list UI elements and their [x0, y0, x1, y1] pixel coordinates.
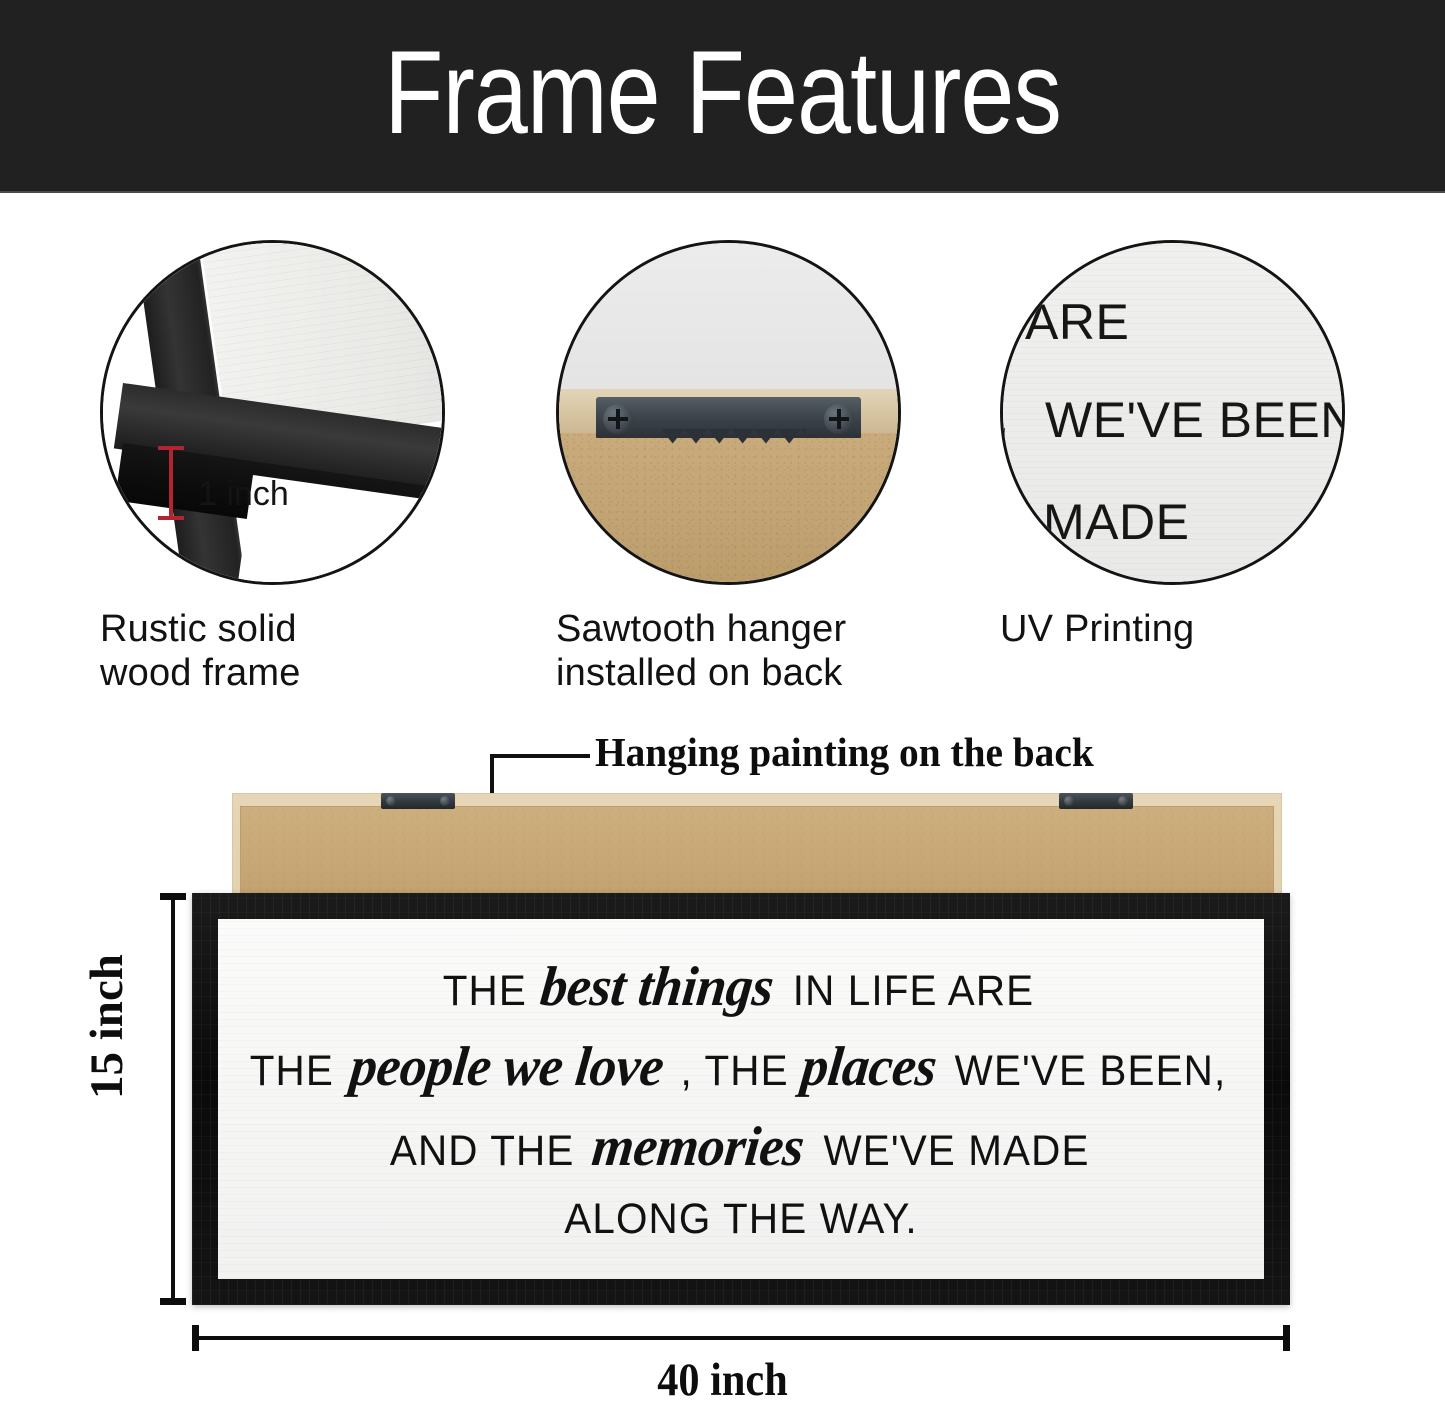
sign-face: THE best things IN LIFE ARE THE people w… — [218, 919, 1264, 1279]
quote-segment: IN LIFE ARE — [793, 967, 1035, 1016]
quote-line: THE best things IN LIFE ARE — [440, 955, 1042, 1019]
quote-segment: WE'VE MADE — [823, 1127, 1089, 1176]
quote-segment-script: memories — [582, 1115, 813, 1179]
quote-segment: THE — [250, 1047, 334, 1096]
frame-back-panel — [232, 793, 1282, 898]
width-dimension-label: 40 inch — [72, 1353, 1373, 1407]
feature-callouts: 1 inch Rustic solid wood frame Sawtooth … — [0, 193, 1445, 698]
uv-printing-photo-circle: / ARE WE'VE BEEN MADE — [1000, 240, 1345, 585]
callout-label: Hanging painting on the back — [595, 728, 1094, 776]
sawtooth-hanger-icon-left — [381, 793, 455, 809]
screw-icon-right — [824, 404, 854, 434]
quote-segment-script: places — [791, 1035, 946, 1099]
quote-line: AND THE memories WE'VE MADE — [384, 1115, 1097, 1179]
feature-caption: Sawtooth hanger installed on back — [556, 607, 936, 695]
quote-line: ALONG THE WAY. — [553, 1195, 929, 1244]
quote-segment-script: best things — [531, 955, 783, 1019]
quote-segment: AND THE — [390, 1127, 575, 1176]
feature-rustic-wood-frame: 1 inch Rustic solid wood frame — [100, 193, 480, 695]
leader-line-horizontal — [490, 754, 590, 758]
printed-word: MADE — [1043, 493, 1189, 551]
feature-caption: UV Printing — [1000, 607, 1380, 651]
width-dimension-line — [192, 1325, 1290, 1351]
screw-icon-left — [603, 404, 633, 434]
sawtooth-teeth-icon — [661, 429, 807, 446]
sawtooth-hanger-icon-right — [1059, 793, 1133, 809]
printed-word: WE'VE BEEN — [1045, 391, 1345, 449]
page-title: Frame Features — [384, 34, 1061, 160]
frame-corner-photo-circle: 1 inch — [100, 240, 445, 585]
quote-segment: , THE — [680, 1047, 788, 1096]
printed-word: ARE — [1025, 293, 1129, 351]
feature-sawtooth-hanger: Sawtooth hanger installed on back — [556, 193, 936, 695]
feature-uv-printing: / ARE WE'VE BEEN MADE UV Printing — [1000, 193, 1380, 651]
header-bar: Frame Features — [0, 0, 1445, 193]
quote-line: THE people we love , THE places WE'VE BE… — [247, 1035, 1235, 1099]
height-dimension-line — [160, 893, 186, 1305]
measurement-bracket-icon — [158, 446, 184, 520]
feature-caption: Rustic solid wood frame — [100, 607, 480, 695]
measurement-label: 1 inch — [198, 475, 289, 514]
mdf-backing-board — [240, 806, 1274, 897]
photo-background — [559, 243, 898, 389]
height-dimension-label: 15 inch — [80, 954, 134, 1099]
quote-segment: THE — [442, 967, 526, 1016]
quote-segment-script: people we love — [340, 1035, 673, 1099]
sawtooth-hanger-photo-circle — [556, 240, 901, 585]
mdf-back-panel — [559, 433, 898, 582]
framed-sign-product: THE best things IN LIFE ARE THE people w… — [192, 893, 1290, 1305]
quote-segment: ALONG THE WAY. — [564, 1195, 917, 1244]
quote-segment: WE'VE BEEN, — [954, 1047, 1226, 1096]
